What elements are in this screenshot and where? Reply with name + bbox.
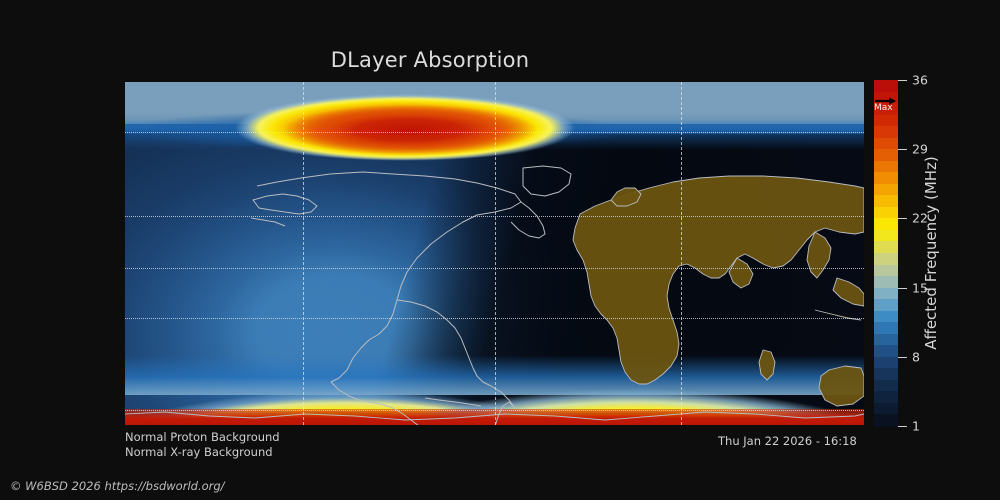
colorbar-segment — [874, 218, 898, 230]
colorbar-segment — [874, 253, 898, 265]
colorbar-segment — [874, 403, 898, 415]
colorbar-segment — [874, 276, 898, 288]
dlayer-absorption-page: DLayer Absorption — [0, 0, 1000, 500]
colorbar-segment — [874, 391, 898, 403]
longitude-line-120w — [303, 82, 304, 425]
colorbar-segment — [874, 230, 898, 242]
colorbar-max-label: Max — [874, 103, 893, 113]
colorbar-segment — [874, 334, 898, 346]
colorbar-segment — [874, 380, 898, 392]
colorbar-max-marker: Max — [874, 96, 898, 114]
colorbar-segment — [874, 345, 898, 357]
timestamp-label: Thu Jan 22 2026 - 16:18 — [718, 434, 857, 448]
colorbar-title: Affected Frequency (MHz) — [916, 80, 946, 426]
colorbar-gradient — [874, 80, 898, 426]
colorbar[interactable] — [874, 80, 898, 426]
colorbar-tick — [898, 218, 907, 219]
colorbar-segment — [874, 195, 898, 207]
colorbar-segment — [874, 265, 898, 277]
colorbar-tick — [898, 149, 907, 150]
colorbar-segment — [874, 241, 898, 253]
colorbar-segment — [874, 138, 898, 150]
colorbar-segment — [874, 184, 898, 196]
colorbar-tick — [898, 426, 907, 427]
colorbar-tick — [898, 357, 907, 358]
colorbar-segment — [874, 207, 898, 219]
proton-background-status: Normal Proton Background — [125, 430, 280, 444]
colorbar-segment — [874, 414, 898, 426]
colorbar-segment — [874, 311, 898, 323]
colorbar-segment — [874, 288, 898, 300]
colorbar-segment — [874, 126, 898, 138]
colorbar-title-text: Affected Frequency (MHz) — [922, 156, 940, 350]
map-graticule — [125, 82, 864, 425]
longitude-line-0 — [495, 82, 496, 425]
colorbar-segment — [874, 322, 898, 334]
colorbar-segment — [874, 357, 898, 369]
colorbar-tick — [898, 288, 907, 289]
colorbar-segment — [874, 172, 898, 184]
colorbar-segment — [874, 80, 898, 92]
colorbar-segment — [874, 115, 898, 127]
copyright-footer: © W6BSD 2026 https://bsdworld.org/ — [10, 479, 225, 493]
colorbar-tick — [898, 80, 907, 81]
colorbar-segment — [874, 161, 898, 173]
xray-background-status: Normal X-ray Background — [125, 445, 273, 459]
colorbar-segment — [874, 299, 898, 311]
colorbar-segment — [874, 149, 898, 161]
page-title: DLayer Absorption — [0, 48, 860, 72]
colorbar-segment — [874, 368, 898, 380]
longitude-line-120e — [681, 82, 682, 425]
world-absorption-map[interactable] — [125, 82, 864, 425]
